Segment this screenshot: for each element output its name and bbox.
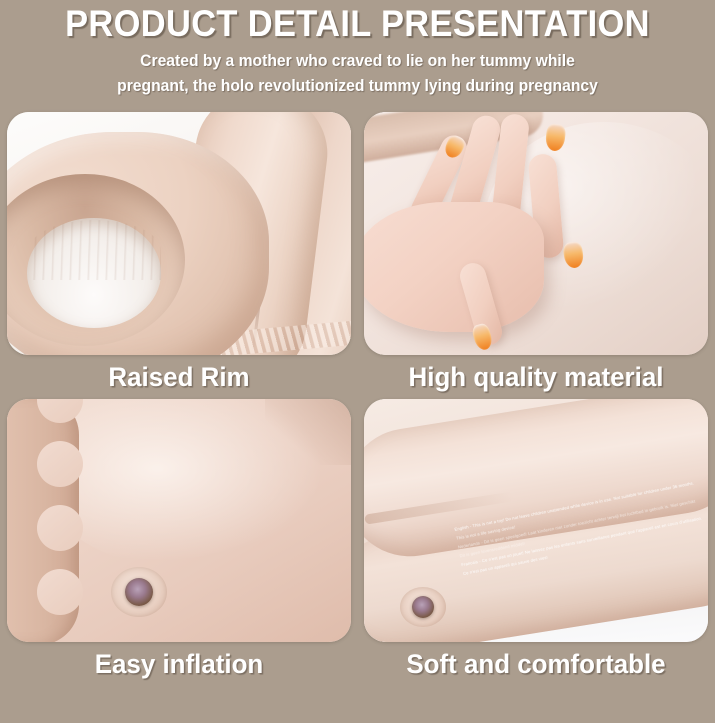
inflation-valve-ring (111, 567, 167, 617)
header: PRODUCT DETAIL PRESENTATION Created by a… (0, 0, 715, 99)
caption-easy-inflation: Easy inflation (14, 642, 344, 686)
panel3-notch-3 (37, 505, 83, 551)
panel2-hand (364, 202, 544, 332)
feature-cell-easy-inflation: Easy inflation (7, 399, 351, 686)
panel1-rim-ring (7, 174, 185, 346)
product-image-high-quality-material[interactable] (364, 112, 708, 355)
page-subtitle: Created by a mother who craved to lie on… (18, 49, 697, 99)
scene-raised-rim (7, 112, 351, 355)
panel3-corner-shade (265, 399, 351, 465)
panel4-valve-plug (412, 596, 434, 618)
panel3-notch-4 (37, 569, 83, 615)
product-image-soft-and-comfortable[interactable]: English - This is not a toy! Do not leav… (364, 399, 708, 642)
feature-cell-high-quality-material: High quality material (364, 112, 708, 399)
panel3-notch-1 (37, 399, 83, 423)
page-title: PRODUCT DETAIL PRESENTATION (25, 4, 690, 44)
feature-grid: Raised Rim (0, 112, 715, 686)
panel3-scalloped-edge (7, 399, 79, 642)
feature-row-bottom: Easy inflation English - This is not a t… (0, 399, 715, 686)
panel4-valve-ring (400, 587, 446, 627)
feature-row-top: Raised Rim (0, 112, 715, 399)
panel1-cushion-body (7, 132, 269, 355)
scene-easy-inflation (7, 399, 351, 642)
product-image-raised-rim[interactable] (7, 112, 351, 355)
caption-raised-rim: Raised Rim (14, 355, 344, 399)
subtitle-line-1: Created by a mother who craved to lie on… (18, 49, 697, 74)
scene-high-quality-material (364, 112, 708, 355)
panel3-notch-2 (37, 441, 83, 487)
caption-high-quality-material: High quality material (371, 355, 701, 399)
scene-soft-and-comfortable: English - This is not a toy! Do not leav… (364, 399, 708, 642)
feature-cell-raised-rim: Raised Rim (7, 112, 351, 399)
subtitle-line-2: pregnant, the holo revolutionized tummy … (18, 74, 697, 99)
feature-cell-soft-and-comfortable: English - This is not a toy! Do not leav… (364, 399, 708, 686)
caption-soft-and-comfortable: Soft and comfortable (371, 642, 701, 686)
inflation-valve-plug (125, 578, 153, 606)
product-image-easy-inflation[interactable] (7, 399, 351, 642)
panel1-rim-ribs (29, 220, 161, 280)
